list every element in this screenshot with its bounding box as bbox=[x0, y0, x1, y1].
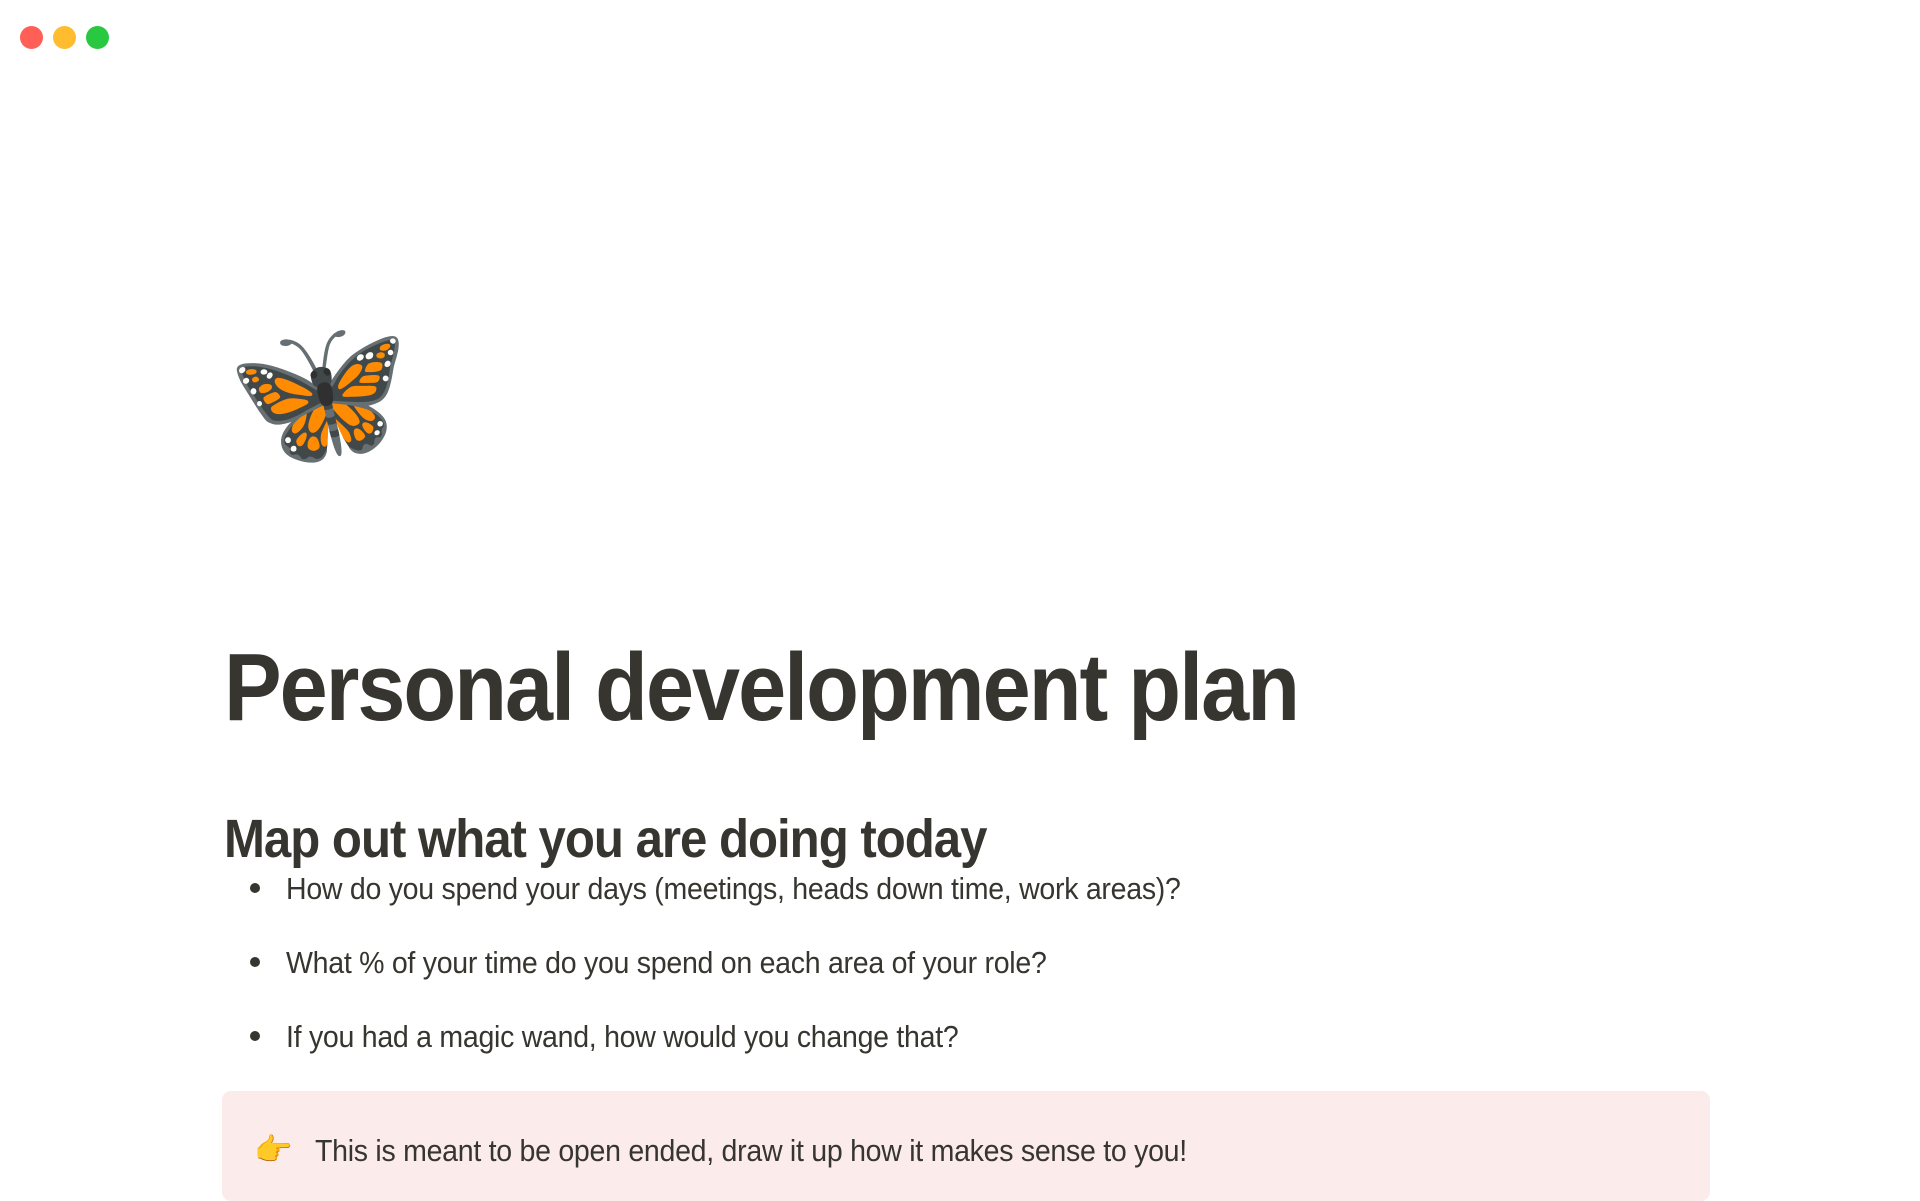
section-heading[interactable]: Map out what you are doing today bbox=[224, 810, 986, 869]
list-item-label: How do you spend your days (meetings, he… bbox=[286, 873, 1181, 904]
bullet-dot-icon bbox=[250, 1031, 260, 1041]
callout-block[interactable]: 👉 This is meant to be open ended, draw i… bbox=[222, 1091, 1710, 1201]
document-page: 🦋 Personal development plan Map out what… bbox=[0, 0, 1920, 1200]
bullet-dot-icon bbox=[250, 883, 260, 893]
butterfly-emoji[interactable]: 🦋 bbox=[226, 318, 410, 466]
list-item[interactable]: If you had a magic wand, how would you c… bbox=[224, 1021, 1724, 1095]
page-title[interactable]: Personal development plan bbox=[224, 638, 1298, 739]
bullet-dot-icon bbox=[250, 957, 260, 967]
list-item[interactable]: What % of your time do you spend on each… bbox=[224, 947, 1724, 1021]
bullet-list: How do you spend your days (meetings, he… bbox=[224, 873, 1724, 1095]
list-item-label: If you had a magic wand, how would you c… bbox=[286, 1021, 958, 1052]
backhand-index-pointing-right-emoji: 👉 bbox=[254, 1135, 293, 1166]
callout-text: This is meant to be open ended, draw it … bbox=[315, 1135, 1187, 1166]
list-item-label: What % of your time do you spend on each… bbox=[286, 947, 1047, 978]
list-item[interactable]: How do you spend your days (meetings, he… bbox=[224, 873, 1724, 947]
